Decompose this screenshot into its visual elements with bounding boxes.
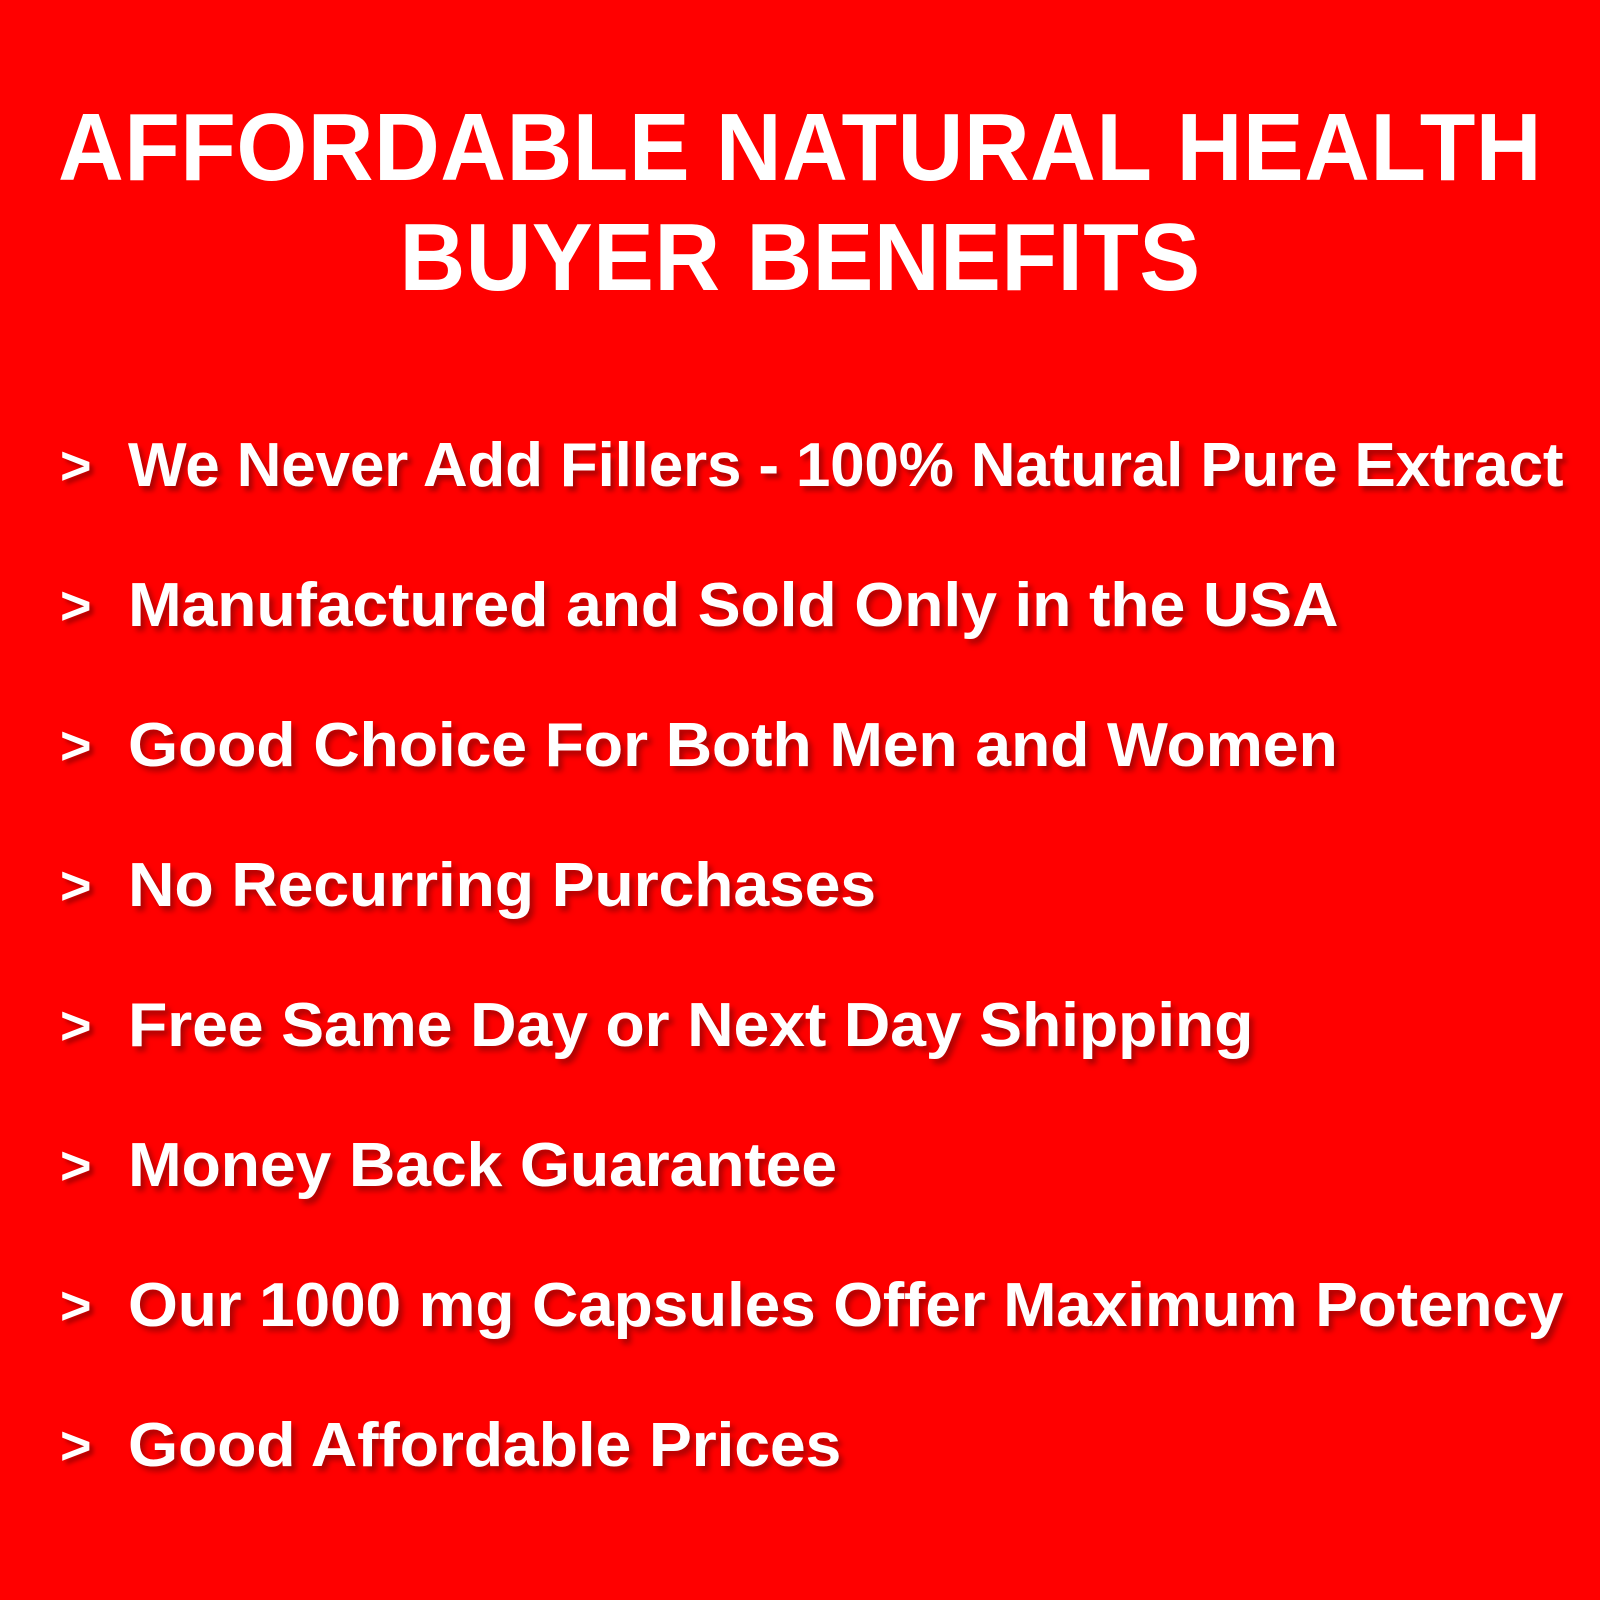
benefits-list: > We Never Add Fillers - 100% Natural Pu… — [0, 396, 1600, 1516]
list-item: > Our 1000 mg Capsules Offer Maximum Pot… — [0, 1236, 1600, 1376]
benefit-label: Our 1000 mg Capsules Offer Maximum Poten… — [128, 1271, 1563, 1341]
benefit-label: Manufactured and Sold Only in the USA — [128, 571, 1338, 641]
list-item: > No Recurring Purchases — [0, 816, 1600, 956]
chevron-right-icon: > — [60, 439, 128, 493]
chevron-right-icon: > — [60, 719, 128, 773]
list-item: > Good Choice For Both Men and Women — [0, 676, 1600, 816]
list-item: > Good Affordable Prices — [0, 1376, 1600, 1516]
chevron-right-icon: > — [60, 1279, 128, 1333]
benefit-label: We Never Add Fillers - 100% Natural Pure… — [128, 431, 1563, 501]
chevron-right-icon: > — [60, 579, 128, 633]
benefit-label: No Recurring Purchases — [128, 851, 876, 921]
chevron-right-icon: > — [60, 859, 128, 913]
chevron-right-icon: > — [60, 999, 128, 1053]
benefit-label: Free Same Day or Next Day Shipping — [128, 991, 1253, 1061]
benefit-label: Money Back Guarantee — [128, 1131, 837, 1201]
page-title: AFFORDABLE NATURAL HEALTH BUYER BENEFITS — [0, 100, 1600, 306]
page-title-line-1: AFFORDABLE NATURAL HEALTH — [41, 100, 1559, 196]
benefit-label: Good Choice For Both Men and Women — [128, 711, 1338, 781]
list-item: > Manufactured and Sold Only in the USA — [0, 536, 1600, 676]
list-item: > Money Back Guarantee — [0, 1096, 1600, 1236]
list-item: > Free Same Day or Next Day Shipping — [0, 956, 1600, 1096]
list-item: > We Never Add Fillers - 100% Natural Pu… — [0, 396, 1600, 536]
chevron-right-icon: > — [60, 1139, 128, 1193]
chevron-right-icon: > — [60, 1419, 128, 1473]
benefit-label: Good Affordable Prices — [128, 1411, 841, 1481]
benefits-poster: AFFORDABLE NATURAL HEALTH BUYER BENEFITS… — [0, 0, 1600, 1600]
page-title-line-2: BUYER BENEFITS — [41, 210, 1559, 306]
